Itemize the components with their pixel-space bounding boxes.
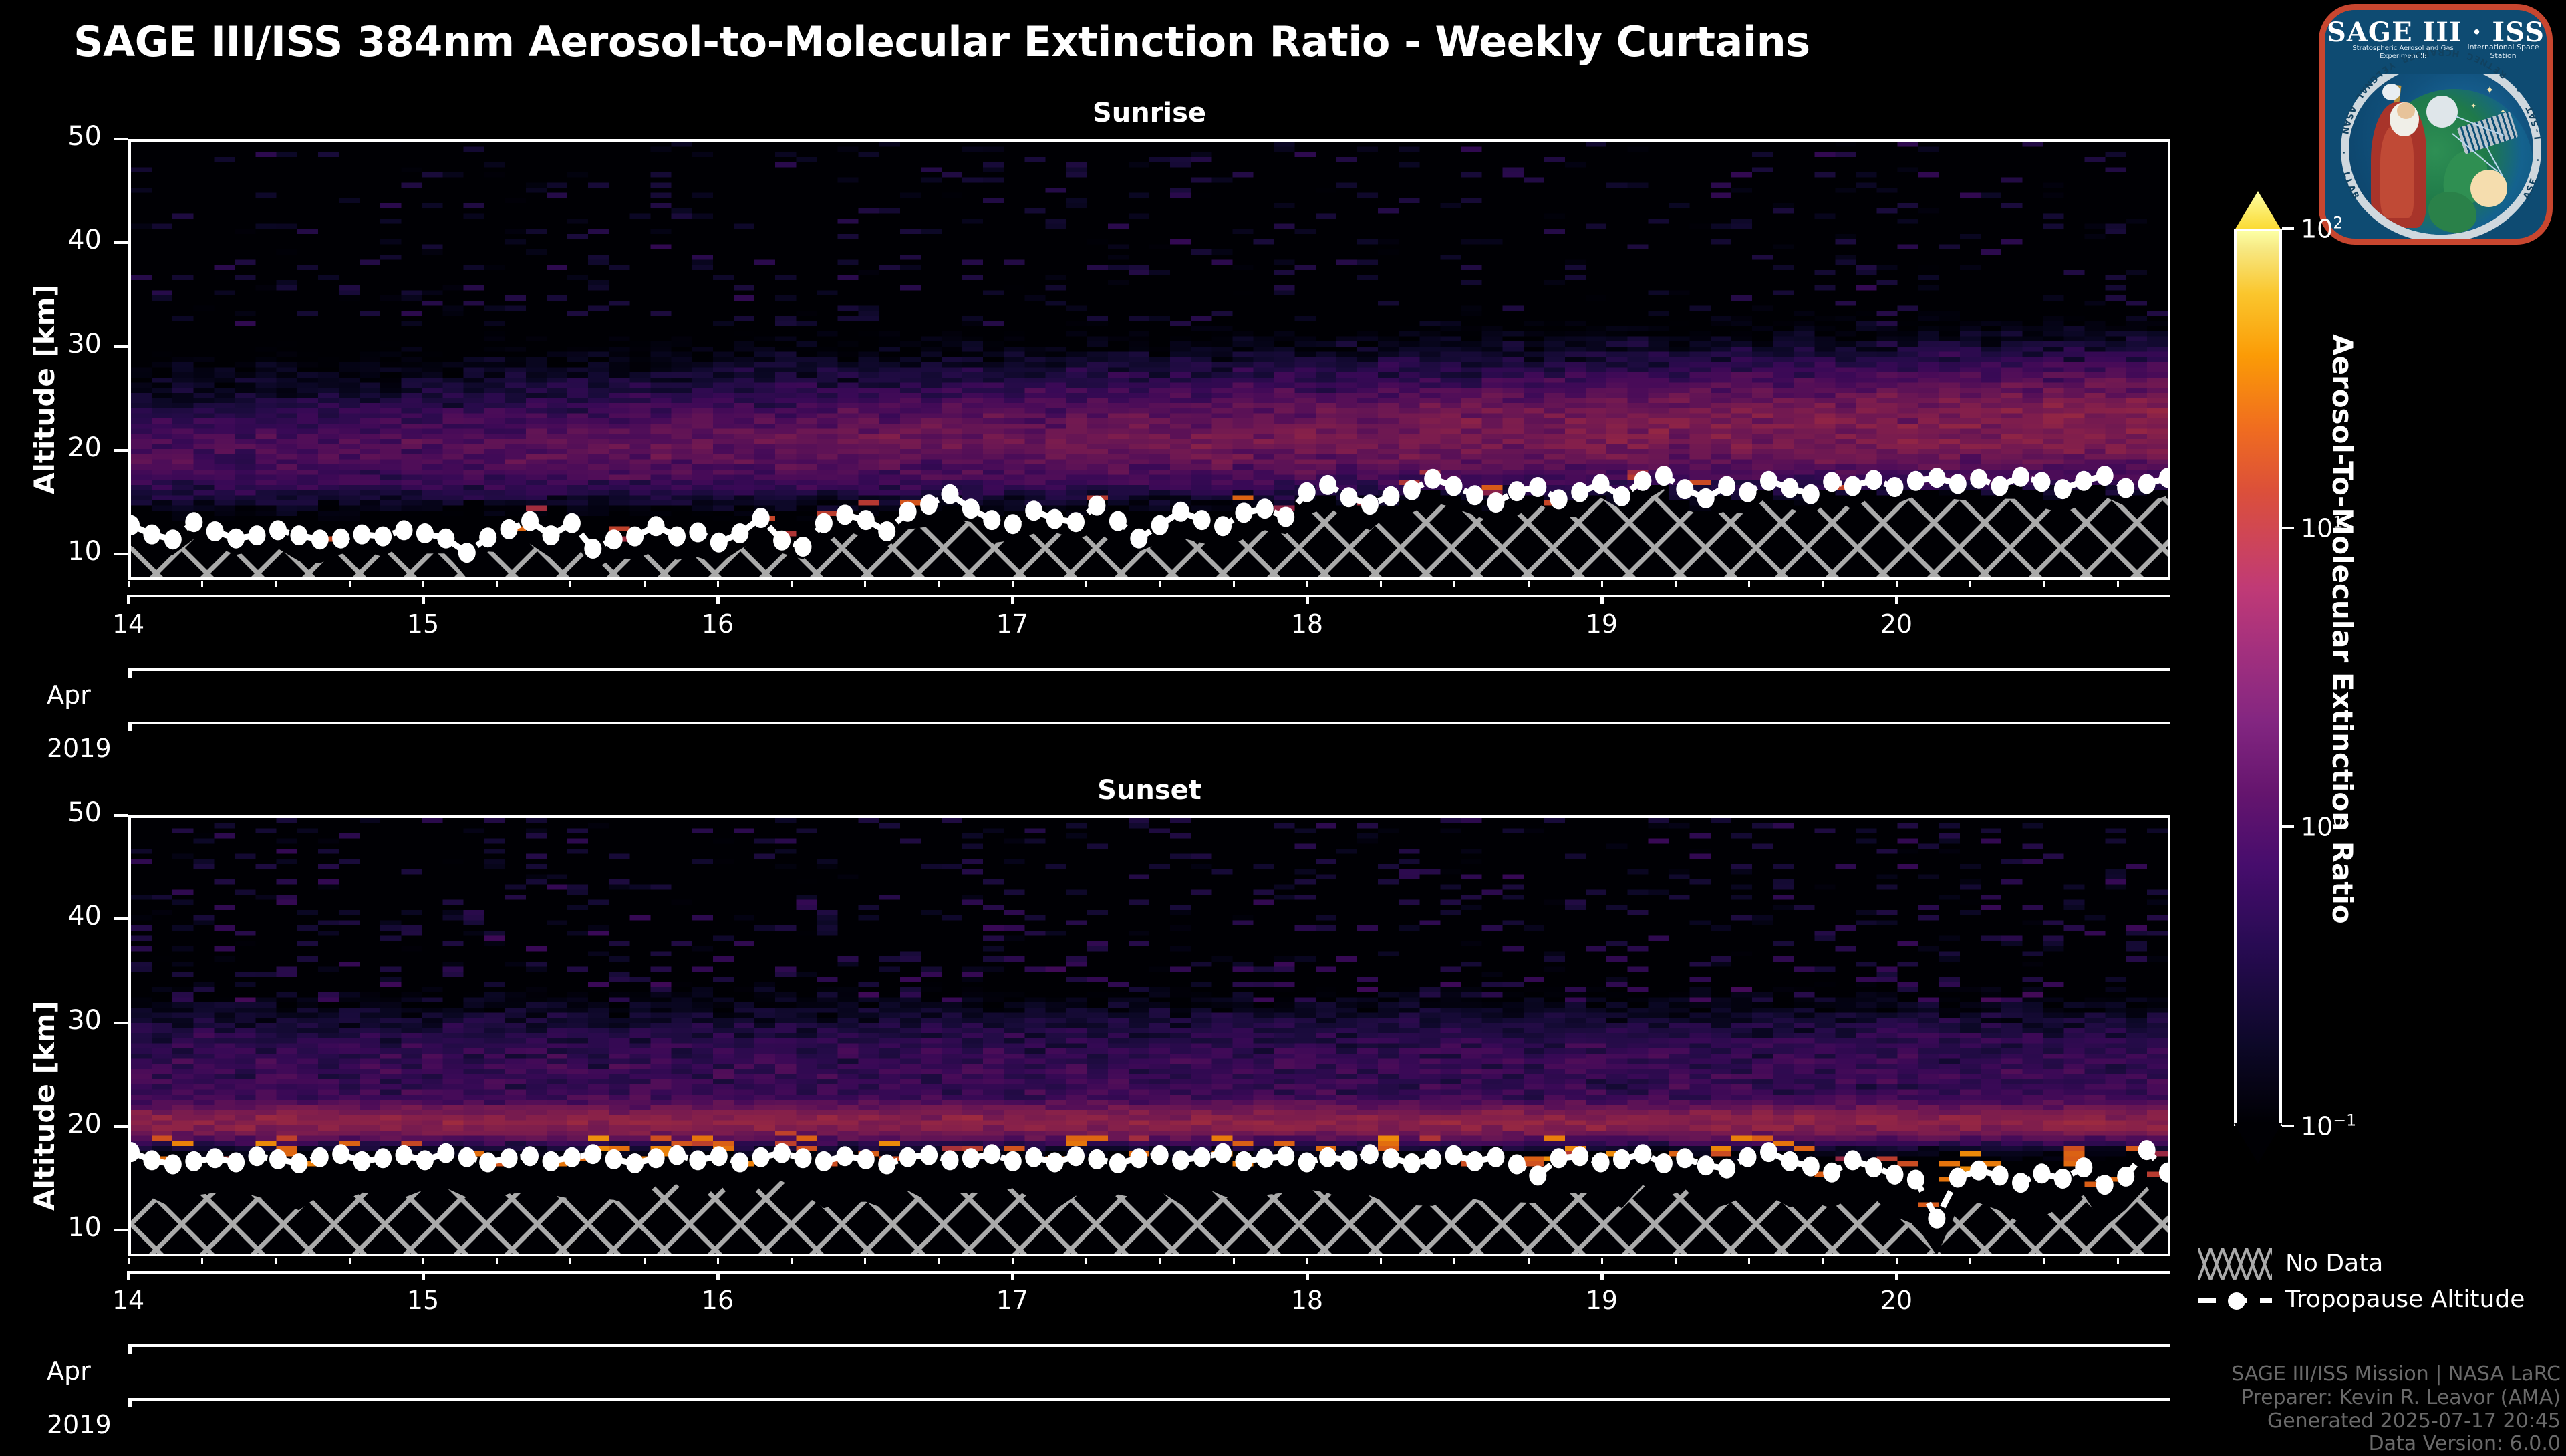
x-axis-day-line [128, 1271, 2170, 1274]
x-minor-tick [1085, 581, 1087, 587]
colorbar-gradient [2234, 229, 2282, 1126]
x-minor-tick [1969, 1258, 1971, 1264]
x-minor-tick [1822, 1258, 1824, 1264]
y-tick-label: 40 [8, 901, 102, 931]
x-minor-tick [864, 1258, 866, 1264]
x-minor-tick [349, 581, 351, 587]
y-tick-label: 50 [8, 797, 102, 828]
x-tick-mark [422, 1271, 425, 1280]
x-tick-label: 15 [407, 1286, 439, 1315]
x-minor-tick [422, 1258, 424, 1264]
x-tick-mark [127, 595, 130, 604]
x-minor-tick [569, 1258, 571, 1264]
footer-line-mission: SAGE III/ISS Mission | NASA LaRC [2026, 1363, 2561, 1387]
x-minor-tick [1159, 1258, 1161, 1264]
footer-credits: SAGE III/ISS Mission | NASA LaRC Prepare… [2026, 1363, 2561, 1456]
x-minor-tick [275, 581, 277, 587]
footer-line-generated: Generated 2025-07-17 20:45 [2026, 1410, 2561, 1433]
x-minor-tick [1675, 581, 1677, 587]
colorbar-label: Aerosol-To-Molecular Extinction Ratio [2326, 334, 2359, 924]
x-tick-label: 17 [996, 609, 1028, 639]
x-minor-tick [1601, 581, 1603, 587]
x-minor-tick [1748, 1258, 1750, 1264]
y-tick-label: 40 [8, 225, 102, 255]
x-minor-tick [128, 1258, 130, 1264]
y-tick-label: 30 [8, 329, 102, 359]
plot-area-sunrise[interactable] [128, 139, 2170, 580]
x-tick-mark [1895, 595, 1898, 604]
x-minor-tick [1601, 1258, 1603, 1264]
footer-line-preparer: Preparer: Kevin R. Leavor (AMA) [2026, 1387, 2561, 1410]
y-tick-label: 20 [8, 432, 102, 463]
x-tick-mark [716, 595, 720, 604]
colorbar-tick-label: 10−1 [2301, 1111, 2356, 1141]
y-tick-label: 50 [8, 121, 102, 152]
x-minor-tick [1380, 1258, 1382, 1264]
x-tick-label: 16 [702, 609, 734, 639]
x-minor-tick [717, 581, 719, 587]
x-minor-tick [2117, 581, 2119, 587]
x-tick-mark [716, 1271, 720, 1280]
x-minor-tick [1896, 581, 1898, 587]
x-tick-label: 16 [702, 1286, 734, 1315]
x-minor-tick [201, 581, 203, 587]
footer-line-version: Data Version: 6.0.0 [2026, 1433, 2561, 1456]
x-tick-label: 19 [1586, 1286, 1618, 1315]
x-minor-tick [717, 1258, 719, 1264]
x-minor-tick [938, 581, 940, 587]
x-minor-tick [1233, 581, 1235, 587]
x-month-tick-mark [128, 1344, 132, 1354]
x-tick-label: 19 [1586, 609, 1618, 639]
x-minor-tick [569, 581, 571, 587]
legend-item-no-data[interactable]: No Data [2198, 1248, 2559, 1284]
x-axis-day-line [128, 595, 2170, 597]
x-tick-label: 18 [1291, 609, 1323, 639]
x-tick-label: 18 [1291, 1286, 1323, 1315]
colorbar-extend-max-arrow [2234, 191, 2282, 231]
y-tick-mark [114, 814, 128, 817]
x-minor-tick [644, 1258, 646, 1264]
x-axis-month-label: Apr [47, 1356, 91, 1386]
x-minor-tick [1085, 1258, 1087, 1264]
y-tick-mark [114, 1022, 128, 1024]
colorbar-tick-label: 102 [2301, 214, 2343, 244]
panel-title-sunrise: Sunrise [128, 98, 2170, 128]
x-minor-tick [644, 581, 646, 587]
colorbar-tick-mark [2282, 1125, 2294, 1127]
plot-area-sunset[interactable] [128, 815, 2170, 1256]
x-minor-tick [1012, 1258, 1014, 1264]
x-tick-label: 14 [112, 1286, 144, 1315]
x-minor-tick [496, 1258, 498, 1264]
y-tick-label: 10 [8, 536, 102, 567]
legend-label-tropopause: Tropopause Altitude [2285, 1286, 2525, 1313]
x-minor-tick [2043, 581, 2045, 587]
x-minor-tick [1380, 581, 1382, 587]
legend-item-tropopause[interactable]: Tropopause Altitude [2198, 1284, 2559, 1320]
x-axis-month-line [128, 668, 2170, 671]
colorbar-tick-mark [2282, 227, 2294, 230]
panel-title-sunset: Sunset [128, 775, 2170, 806]
x-minor-tick [791, 1258, 793, 1264]
x-minor-tick [791, 581, 793, 587]
y-tick-mark [114, 1125, 128, 1128]
x-minor-tick [128, 581, 130, 587]
x-tick-label: 15 [407, 609, 439, 639]
x-tick-mark [1895, 1271, 1898, 1280]
x-minor-tick [422, 581, 424, 587]
tropopause-altitude-series-sunrise [131, 142, 2168, 577]
x-minor-tick [1453, 581, 1455, 587]
x-minor-tick [201, 1258, 203, 1264]
x-minor-tick [1822, 581, 1824, 587]
x-axis-month-line [128, 1344, 2170, 1347]
x-tick-mark [1306, 595, 1309, 604]
x-month-tick-mark [128, 668, 132, 678]
x-tick-mark [1600, 1271, 1604, 1280]
colorbar[interactable]: 10210110010−1 [2234, 191, 2282, 1163]
x-minor-tick [1159, 581, 1161, 587]
x-tick-label: 20 [1880, 1286, 1912, 1315]
x-tick-mark [1011, 1271, 1014, 1280]
y-tick-mark [114, 345, 128, 348]
y-tick-label: 20 [8, 1109, 102, 1139]
x-minor-tick [1233, 1258, 1235, 1264]
x-tick-label: 14 [112, 609, 144, 639]
x-minor-tick [275, 1258, 277, 1264]
panel-sunset: Sunset Altitude [km] 1020304050 14151617… [0, 708, 2566, 1443]
colorbar-extend-min-arrow [2234, 1123, 2282, 1163]
x-minor-tick [2043, 1258, 2045, 1264]
x-minor-tick [1896, 1258, 1898, 1264]
x-minor-tick [1306, 1258, 1308, 1264]
x-tick-mark [1011, 595, 1014, 604]
colorbar-tick-mark [2282, 825, 2294, 828]
tropopause-marker-icon [2198, 1284, 2272, 1316]
no-data-hatch-icon [2198, 1248, 2272, 1280]
x-tick-mark [1600, 595, 1604, 604]
y-tick-mark [114, 138, 128, 140]
y-tick-mark [114, 917, 128, 920]
x-minor-tick [1675, 1258, 1677, 1264]
x-year-tick-mark [128, 1398, 132, 1407]
y-tick-label: 30 [8, 1005, 102, 1036]
x-tick-label: 17 [996, 1286, 1028, 1315]
legend: No Data Tropopause Altitude [2198, 1248, 2559, 1320]
colorbar-tick-mark [2282, 527, 2294, 529]
x-axis-month-label: Apr [47, 680, 91, 710]
x-minor-tick [1969, 581, 1971, 587]
x-minor-tick [938, 1258, 940, 1264]
y-tick-label: 10 [8, 1212, 102, 1243]
x-axis-year-label: 2019 [47, 1410, 112, 1439]
x-tick-mark [127, 1271, 130, 1280]
x-minor-tick [349, 1258, 351, 1264]
y-tick-mark [114, 241, 128, 244]
x-tick-mark [1306, 1271, 1309, 1280]
y-tick-mark [114, 553, 128, 555]
y-tick-mark [114, 449, 128, 452]
x-tick-mark [422, 595, 425, 604]
x-minor-tick [496, 581, 498, 587]
x-minor-tick [864, 581, 866, 587]
x-minor-tick [1748, 581, 1750, 587]
x-minor-tick [1528, 1258, 1530, 1264]
panel-sunrise: Sunrise Altitude [km] 1020304050 1415161… [0, 0, 2566, 748]
x-minor-tick [2117, 1258, 2119, 1264]
x-minor-tick [1306, 581, 1308, 587]
legend-label-no-data: No Data [2285, 1250, 2383, 1277]
x-minor-tick [1012, 581, 1014, 587]
tropopause-altitude-series-sunset [131, 818, 2168, 1254]
x-minor-tick [1453, 1258, 1455, 1264]
y-tick-mark [114, 1229, 128, 1231]
x-axis-year-line [128, 1398, 2170, 1401]
x-minor-tick [1528, 581, 1530, 587]
x-tick-label: 20 [1880, 609, 1912, 639]
